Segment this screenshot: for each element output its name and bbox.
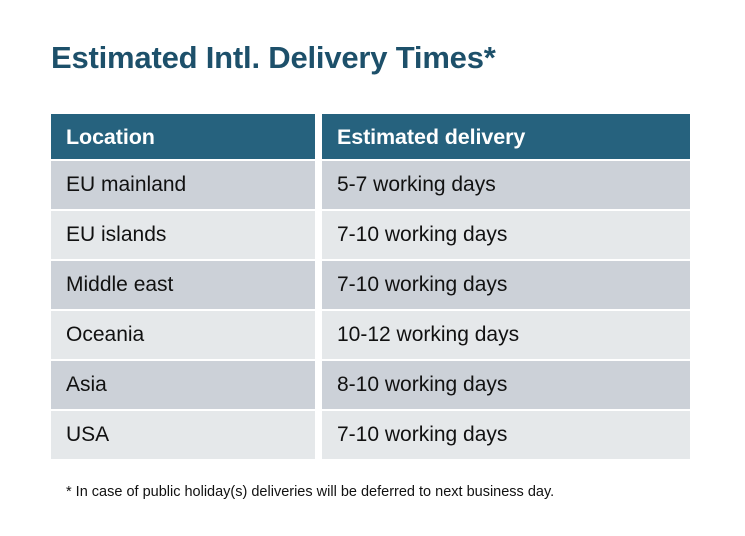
- cell-location: Oceania: [51, 309, 315, 359]
- cell-location: Middle east: [51, 259, 315, 309]
- cell-estimated-delivery: 7-10 working days: [322, 209, 690, 259]
- table-header: Location Estimated delivery: [51, 114, 690, 159]
- table-row: EU mainland 5-7 working days: [51, 159, 690, 209]
- cell-estimated-delivery: 8-10 working days: [322, 359, 690, 409]
- cell-estimated-delivery: 10-12 working days: [322, 309, 690, 359]
- footnote: * In case of public holiday(s) deliverie…: [66, 482, 554, 502]
- delivery-times-table: Location Estimated delivery EU mainland …: [51, 114, 690, 459]
- cell-estimated-delivery: 7-10 working days: [322, 409, 690, 459]
- row-gutter: [315, 259, 322, 309]
- cell-location: EU mainland: [51, 159, 315, 209]
- cell-location: EU islands: [51, 209, 315, 259]
- column-header-estimated-delivery: Estimated delivery: [322, 114, 690, 159]
- row-gutter: [315, 409, 322, 459]
- column-header-location: Location: [51, 114, 315, 159]
- row-gutter: [315, 309, 322, 359]
- delivery-times-page: Estimated Intl. Delivery Times* Location…: [0, 0, 745, 536]
- column-gutter: [315, 114, 322, 159]
- cell-location: Asia: [51, 359, 315, 409]
- table-header-row: Location Estimated delivery: [51, 114, 690, 159]
- row-gutter: [315, 359, 322, 409]
- table-row: Middle east 7-10 working days: [51, 259, 690, 309]
- page-title: Estimated Intl. Delivery Times*: [51, 38, 496, 78]
- row-gutter: [315, 159, 322, 209]
- cell-estimated-delivery: 7-10 working days: [322, 259, 690, 309]
- table-row: USA 7-10 working days: [51, 409, 690, 459]
- table-row: Oceania 10-12 working days: [51, 309, 690, 359]
- table-row: Asia 8-10 working days: [51, 359, 690, 409]
- table-row: EU islands 7-10 working days: [51, 209, 690, 259]
- cell-estimated-delivery: 5-7 working days: [322, 159, 690, 209]
- cell-location: USA: [51, 409, 315, 459]
- row-gutter: [315, 209, 322, 259]
- table-body: EU mainland 5-7 working days EU islands …: [51, 159, 690, 459]
